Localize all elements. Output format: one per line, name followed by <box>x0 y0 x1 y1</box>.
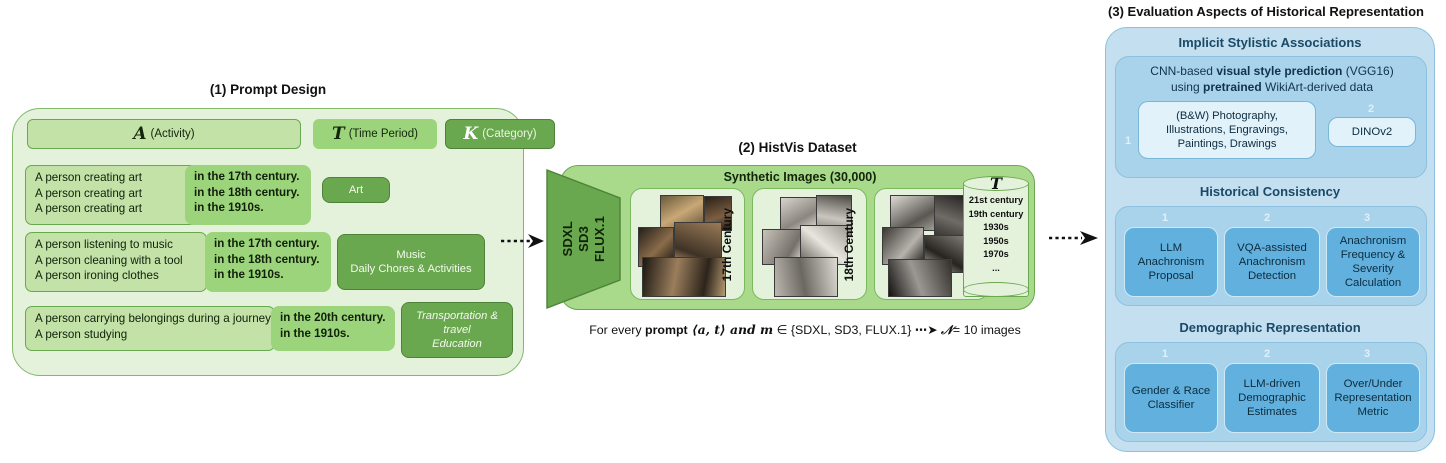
category-box-3[interactable]: Transportation & travel Education <box>401 302 513 358</box>
caption-n-symbol: 𝒩 <box>941 322 953 337</box>
llm-demographic-estimates-cell[interactable]: LLM-driven Demographic Estimates <box>1224 363 1320 433</box>
symbol-category[interactable]: K (Category) <box>445 119 555 149</box>
symbol-activity[interactable]: A (Activity) <box>27 119 301 149</box>
desc-l2b: pretrained <box>1203 80 1262 94</box>
model-name: SDXL <box>560 221 575 256</box>
arrow-dataset-to-evaluation <box>1048 230 1100 246</box>
period-line: in the 18th century. <box>214 252 322 268</box>
anachronism-frequency-severity-cell[interactable]: Anachronism Frequency & Severity Calcula… <box>1326 227 1420 297</box>
section-title-demographic-representation: Demographic Representation <box>1106 320 1434 335</box>
desc-l1b: visual style prediction <box>1216 64 1342 78</box>
label-line-1: 17th <box>720 257 734 282</box>
period-line: in the 18th century. <box>194 185 302 201</box>
period-line: in the 20th century. <box>280 310 386 326</box>
prompt-group-2: A person listening to music A person cle… <box>25 232 515 292</box>
symbol-legend-row: A (Activity) T (Time Period) K (Category… <box>25 119 515 149</box>
panel2-title: (2) HistVis Dataset <box>560 140 1035 155</box>
step-number-2-consistency: 2 <box>1264 212 1270 224</box>
prompt-group-1: A person creating art A person creating … <box>25 165 515 225</box>
model-name: FLUX.1 <box>592 216 607 262</box>
time-period-item: 1950s <box>963 235 1029 249</box>
symbol-time-period[interactable]: T (Time Period) <box>313 119 437 149</box>
activity-line: A person listening to music <box>35 237 198 253</box>
step-number-3-consistency: 3 <box>1364 212 1370 224</box>
category-line: Music <box>396 248 425 262</box>
period-line: in the 17th century. <box>214 236 322 252</box>
caption-part-a: For every <box>589 323 645 337</box>
period-list-2[interactable]: in the 17th century. in the 18th century… <box>205 232 331 292</box>
dinov2-cell[interactable]: DINOv2 <box>1328 117 1416 147</box>
activity-line: A person creating art <box>35 170 200 186</box>
period-line: in the 1910s. <box>194 200 302 216</box>
caption-part-c: ∈ {SDXL, SD3, FLUX.1} <box>773 323 911 337</box>
caption-part-d: = 10 images <box>953 323 1021 337</box>
panel1-title: (1) Prompt Design <box>12 82 524 97</box>
arrow-prompt-to-dataset <box>500 233 546 249</box>
panel3-title: (3) Evaluation Aspects of Historical Rep… <box>1086 4 1446 19</box>
activity-label: (Activity) <box>151 128 195 140</box>
time-period-item: 1970s <box>963 248 1029 262</box>
section-box-implicit-stylistic: CNN-based visual style prediction (VGG16… <box>1115 56 1427 178</box>
style-classes-cell[interactable]: (B&W) Photography, Illustrations, Engrav… <box>1138 101 1316 159</box>
section-title-historical-consistency: Historical Consistency <box>1106 184 1434 199</box>
period-line: in the 1910s. <box>280 326 386 342</box>
desc-l1c: (VGG16) <box>1342 64 1393 78</box>
category-glyph: K <box>463 124 478 144</box>
activity-line: A person creating art <box>35 186 200 202</box>
category-line: travel <box>443 323 470 337</box>
desc-l2a: using <box>1171 80 1203 94</box>
category-box-1[interactable]: Art <box>322 177 390 203</box>
category-line: Transportation & <box>416 309 498 323</box>
category-line: Art <box>349 183 363 197</box>
label-line-2: Century <box>842 208 856 253</box>
image-group-label: 18th Century <box>836 189 862 301</box>
activity-line: A person studying <box>35 327 266 343</box>
section-title-implicit-stylistic: Implicit Stylistic Associations <box>1106 35 1434 50</box>
implicit-stylistic-description: CNN-based visual style prediction (VGG16… <box>1116 63 1428 95</box>
desc-l2c: WikiArt-derived data <box>1262 80 1373 94</box>
time-period-label: (Time Period) <box>349 128 418 140</box>
category-line: Daily Chores & Activities <box>350 262 471 276</box>
step-number-1-demographic: 1 <box>1162 348 1168 360</box>
time-period-item: 19th century <box>963 208 1029 222</box>
model-names: SDXL SD3 FLUX.1 <box>544 168 622 310</box>
time-period-list: 21st century 19th century 1930s 1950s 19… <box>963 194 1029 275</box>
prompt-design-panel: A (Activity) T (Time Period) K (Category… <box>12 108 524 376</box>
activity-list-1[interactable]: A person creating art A person creating … <box>25 165 209 225</box>
step-number-2-style: 2 <box>1368 103 1374 115</box>
label-line-2: Century <box>720 208 734 253</box>
caption-prompt-word: prompt <box>645 323 688 337</box>
period-list-3[interactable]: in the 20th century. in the 1910s. <box>271 306 395 351</box>
time-period-item: ... <box>963 262 1029 276</box>
gender-race-classifier-cell[interactable]: Gender & Race Classifier <box>1124 363 1218 433</box>
model-name: SD3 <box>576 226 591 252</box>
evaluation-aspects-panel: Implicit Stylistic Associations CNN-base… <box>1105 27 1435 452</box>
over-under-representation-metric-cell[interactable]: Over/Under Representation Metric <box>1326 363 1420 433</box>
section-box-historical-consistency: 1 2 3 LLM Anachronism Proposal VQA-assis… <box>1115 206 1427 306</box>
activity-glyph: A <box>133 124 146 144</box>
step-number-1-style: 1 <box>1125 135 1131 147</box>
image-group-18th-century[interactable]: 18th Century <box>752 188 867 300</box>
period-list-1[interactable]: in the 17th century. in the 18th century… <box>185 165 311 225</box>
activity-line: A person carrying belongings during a jo… <box>35 311 266 327</box>
activity-list-3[interactable]: A person carrying belongings during a jo… <box>25 306 275 351</box>
category-line: Education <box>432 337 482 351</box>
cylinder-bottom <box>963 282 1029 297</box>
caption-arrow-icon: ⋯➤ <box>915 323 938 337</box>
image-group-17th-century[interactable]: 17th Century <box>630 188 745 300</box>
activity-list-2[interactable]: A person listening to music A person cle… <box>25 232 207 292</box>
dataset-caption: For every prompt ⟨a, t⟩ and m ∈ {SDXL, S… <box>560 322 1050 338</box>
caption-part-b: ⟨a, t⟩ and <box>688 322 760 337</box>
image-group-label: 17th Century <box>714 189 740 301</box>
activity-line: A person cleaning with a tool <box>35 253 198 269</box>
prompt-group-3: A person carrying belongings during a jo… <box>25 306 515 351</box>
caption-model-symbol: m <box>760 322 773 337</box>
time-period-glyph: T <box>332 124 345 144</box>
period-line: in the 1910s. <box>214 267 322 283</box>
step-number-2-demographic: 2 <box>1264 348 1270 360</box>
period-line: in the 17th century. <box>194 169 302 185</box>
desc-l1a: CNN-based <box>1150 64 1216 78</box>
category-box-2[interactable]: Music Daily Chores & Activities <box>337 234 485 290</box>
step-number-3-demographic: 3 <box>1364 348 1370 360</box>
cylinder-symbol: T <box>963 174 1029 193</box>
time-period-item: 1930s <box>963 221 1029 235</box>
activity-line: A person ironing clothes <box>35 268 198 284</box>
section-box-demographic-representation: 1 2 3 Gender & Race Classifier LLM-drive… <box>1115 342 1427 442</box>
vqa-anachronism-detection-cell[interactable]: VQA-assisted Anachronism Detection <box>1224 227 1320 297</box>
generator-models-trapezoid[interactable]: SDXL SD3 FLUX.1 <box>544 168 622 310</box>
label-line-1: 18th <box>842 257 856 282</box>
llm-anachronism-proposal-cell[interactable]: LLM Anachronism Proposal <box>1124 227 1218 297</box>
synthetic-images-title: Synthetic Images (30,000) <box>600 170 1000 184</box>
step-number-1-consistency: 1 <box>1162 212 1168 224</box>
time-period-item: 21st century <box>963 194 1029 208</box>
category-label: (Category) <box>482 128 536 140</box>
time-period-cylinder[interactable]: T 21st century 19th century 1930s 1950s … <box>963 176 1029 304</box>
activity-line: A person creating art <box>35 201 200 217</box>
